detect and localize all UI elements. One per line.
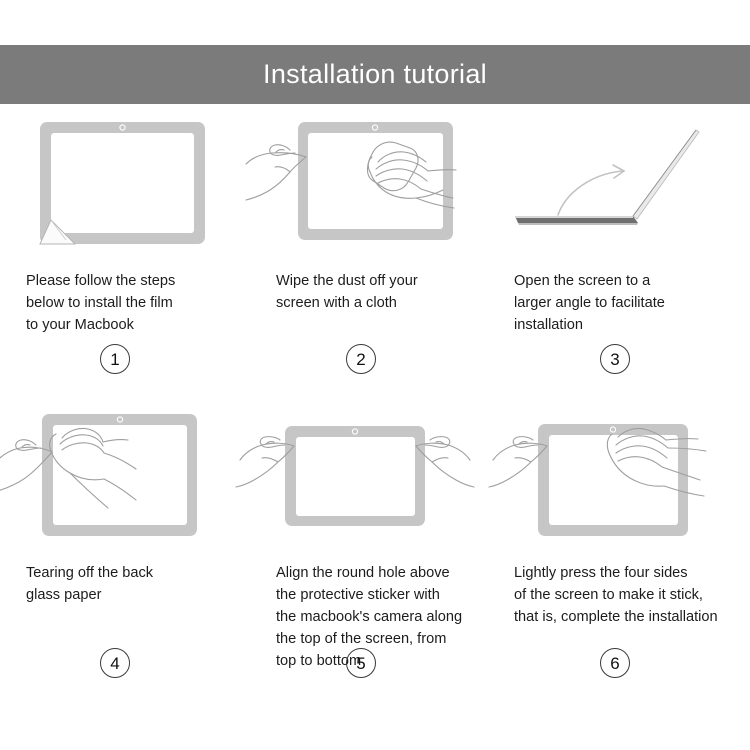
tutorial-step-4: Tearing off the back glass paper 4 (0, 404, 250, 696)
step-6-illustration (500, 404, 750, 544)
tutorial-step-1: Please follow the steps below to install… (0, 112, 250, 404)
step-4-number: 4 (110, 655, 119, 672)
step-6-number: 6 (610, 655, 619, 672)
tutorial-step-2: Wipe the dust off your screen with a clo… (250, 112, 500, 404)
tutorial-steps-grid: Please follow the steps below to install… (0, 112, 750, 732)
step-5-caption: Align the round hole above the protectiv… (250, 562, 500, 672)
step-3-illustration (500, 112, 750, 252)
open-arrow-icon (558, 165, 624, 215)
laptop-base-icon (515, 216, 638, 225)
step-3-caption: Open the screen to a larger angle to fac… (500, 270, 750, 336)
laptop-screen-icon (633, 130, 699, 219)
header-banner: Installation tutorial (0, 45, 750, 104)
step-5-badge: 5 (346, 648, 376, 678)
step-1-badge: 1 (100, 344, 130, 374)
step-6-badge: 6 (600, 648, 630, 678)
page-title: Installation tutorial (263, 61, 487, 88)
step-1-illustration (0, 112, 250, 252)
tutorial-step-5: Align the round hole above the protectiv… (250, 404, 500, 696)
step-2-caption: Wipe the dust off your screen with a clo… (250, 270, 500, 314)
tablet-icon (42, 414, 197, 536)
tutorial-step-6: Lightly press the four sides of the scre… (500, 404, 750, 696)
step-3-badge: 3 (600, 344, 630, 374)
step-2-number: 2 (356, 351, 365, 368)
step-3-number: 3 (610, 351, 619, 368)
step-4-badge: 4 (100, 648, 130, 678)
tablet-icon (298, 122, 453, 240)
step-5-number: 5 (356, 655, 365, 672)
tablet-icon (285, 426, 425, 526)
tutorial-step-3: Open the screen to a larger angle to fac… (500, 112, 750, 404)
step-4-caption: Tearing off the back glass paper (0, 562, 250, 606)
step-5-illustration (250, 404, 500, 544)
step-2-illustration (250, 112, 500, 252)
tablet-icon (538, 424, 688, 536)
step-6-caption: Lightly press the four sides of the scre… (500, 562, 750, 628)
step-2-badge: 2 (346, 344, 376, 374)
step-4-illustration (0, 404, 250, 544)
step-1-number: 1 (110, 351, 119, 368)
tablet-icon (40, 122, 205, 244)
step-1-caption: Please follow the steps below to install… (0, 270, 250, 336)
left-hand-icon (246, 145, 306, 200)
